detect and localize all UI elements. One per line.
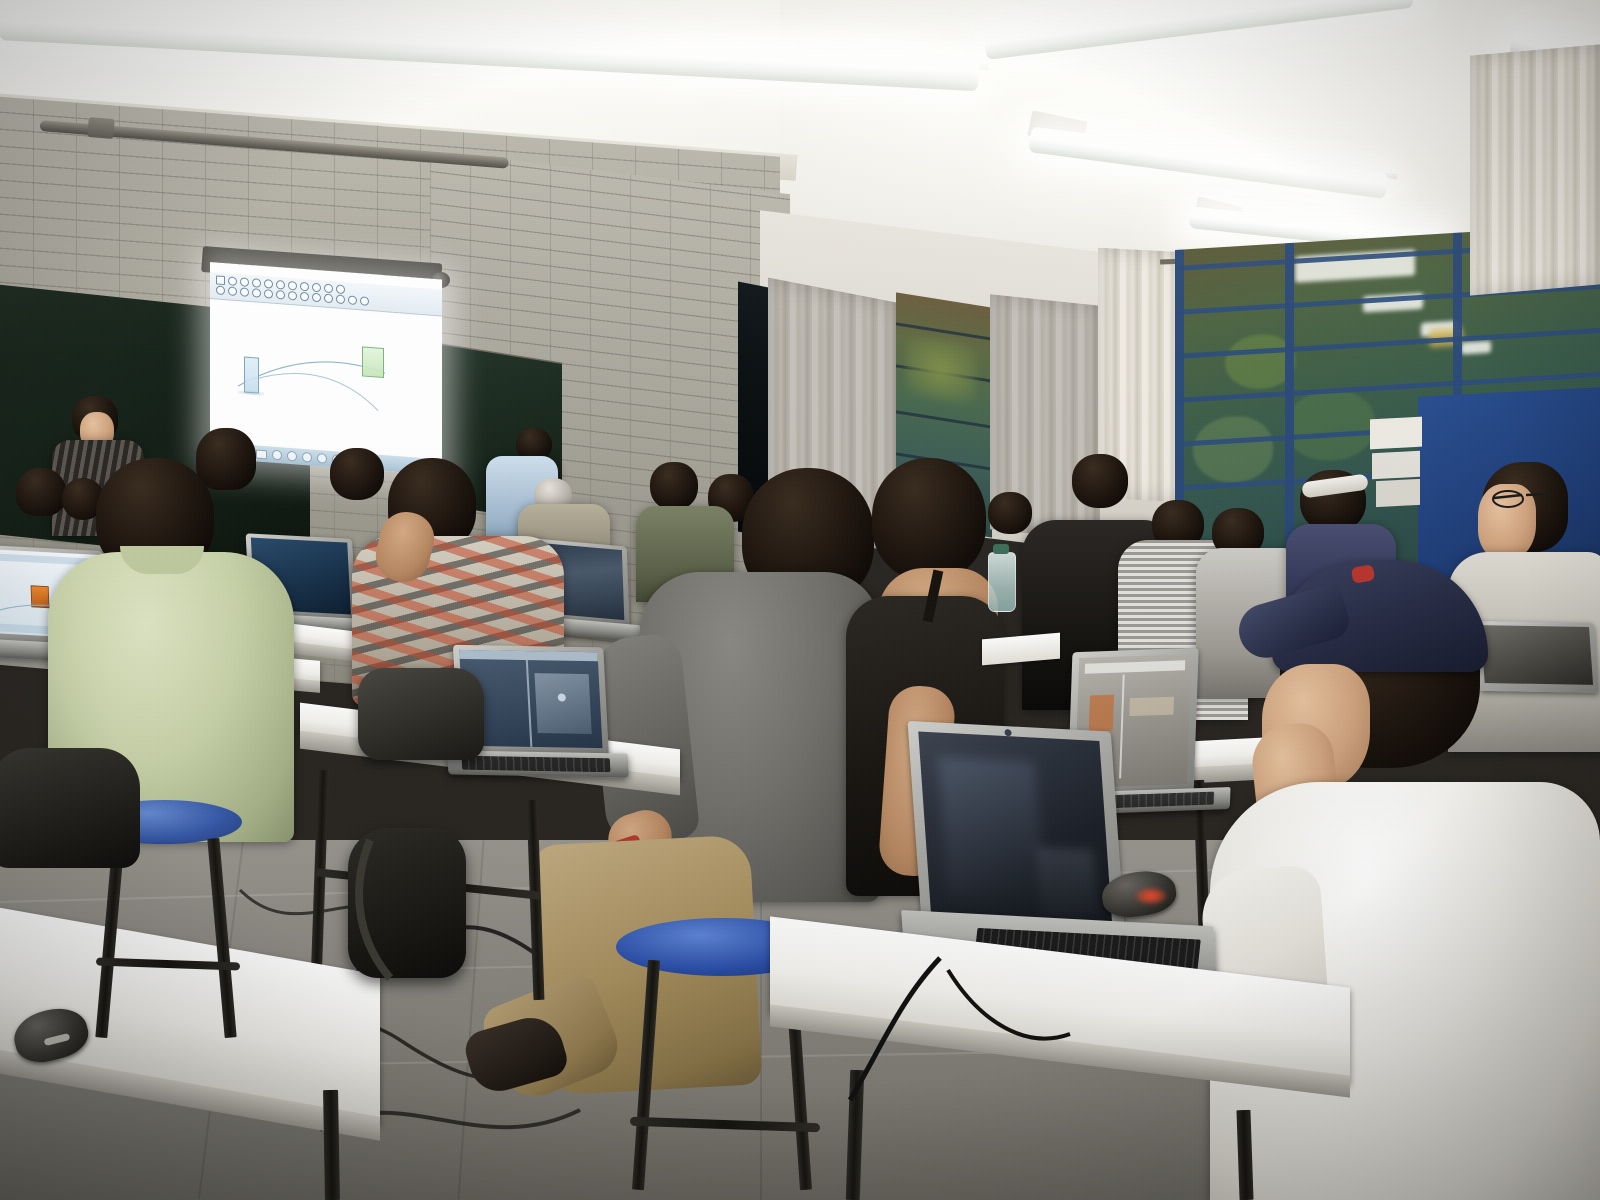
toolbar-icon	[336, 284, 345, 294]
glasses-icon	[1492, 486, 1572, 516]
toolbar-icon	[264, 279, 273, 289]
water-bottle-cap	[993, 544, 1009, 554]
laptop-center-panel-split	[526, 660, 532, 747]
person-back-head	[16, 468, 66, 516]
toolbar-icon	[324, 284, 333, 294]
backpack-strap	[340, 820, 480, 990]
person-back-head	[650, 462, 698, 510]
backpack-on-desk	[358, 668, 484, 760]
mouse-led-glow	[1136, 888, 1166, 904]
diagram-node-right	[362, 346, 384, 378]
laptop-center-cursor-dot	[558, 693, 566, 701]
laptop-mid-right-orange-block	[1089, 695, 1114, 732]
toolbar-icon	[240, 277, 249, 287]
node-right-label	[363, 348, 383, 352]
toolbar-icon	[288, 281, 297, 291]
toolbar-icon	[252, 288, 261, 298]
conduit-junction-box	[87, 117, 115, 139]
person-window-head	[988, 492, 1032, 534]
node-left-label	[245, 358, 258, 361]
toolbar-icon	[348, 295, 357, 305]
toolbar-icon	[312, 283, 321, 293]
taskbar-item	[302, 452, 312, 463]
laptop-foreground-right-screen	[918, 731, 1113, 940]
laptop-center-keyboard	[461, 756, 610, 773]
toolbar-icon	[324, 294, 333, 304]
laptop-center-content	[534, 673, 591, 734]
toolbar-icon	[276, 290, 285, 300]
laptop-mid-right-split	[1119, 674, 1124, 778]
toolbar-icon	[252, 278, 261, 288]
taskbar-item	[317, 453, 327, 464]
toolbar-icon	[360, 296, 369, 306]
taskbar-item	[287, 451, 297, 462]
bag-under-desk	[0, 748, 140, 868]
toolbar-icon	[216, 275, 225, 285]
toolbar-icon	[240, 287, 249, 297]
taskbar-item	[272, 450, 282, 461]
toolbar-icon	[300, 292, 309, 302]
laptop-far-right-screen	[1481, 625, 1593, 685]
white-shelf-box	[1376, 479, 1420, 507]
person-back-head	[196, 428, 256, 490]
toolbar-icon	[228, 276, 237, 286]
curtain-far-right	[1470, 44, 1600, 295]
laptop-power-cable	[820, 930, 1140, 1130]
screen-reflection	[938, 756, 1044, 901]
white-shelf-box	[1370, 417, 1422, 450]
toolbar-icon	[228, 286, 237, 296]
person-back-head	[330, 448, 384, 500]
white-shelf-box	[1372, 451, 1420, 480]
webcam-icon	[1004, 729, 1012, 736]
person-black-top-head	[872, 458, 986, 580]
toolbar-icon	[336, 294, 345, 304]
foliage-blur	[906, 334, 976, 405]
laptop-center-titlebar	[459, 650, 598, 661]
laptop-mid-right-titlebar	[1085, 660, 1186, 673]
water-bottle	[988, 552, 1016, 612]
laptop-far-right	[1475, 621, 1598, 693]
toolbar-icon	[300, 282, 309, 292]
toolbar-icon	[216, 285, 225, 295]
classroom-photo	[0, 0, 1600, 1200]
toolbar-icon	[288, 291, 297, 301]
desk-front-left-leg	[323, 1090, 340, 1200]
toolbar-icon	[264, 289, 273, 299]
toolbar-icon	[312, 293, 321, 303]
person-window-head	[1072, 454, 1128, 508]
taskbar-item	[256, 449, 267, 459]
toolbar-icon	[276, 280, 285, 290]
laptop-mid-right-block	[1129, 697, 1174, 717]
diagram-node-left	[244, 357, 259, 394]
